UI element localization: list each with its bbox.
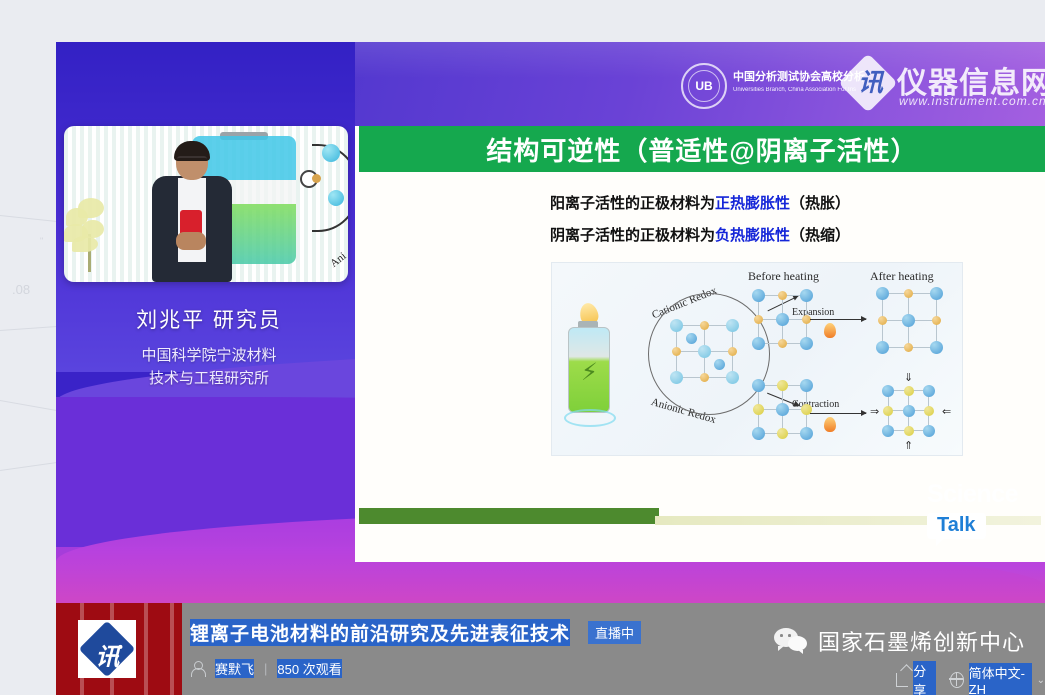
- line2-highlight: 负热膨胀性: [715, 227, 790, 244]
- speaker-card: Ani 刘兆平 研究员 中国科学院宁波材料 技术与工程研究所: [64, 126, 354, 391]
- figure-arrow-up: ⇑: [904, 439, 913, 452]
- figure-arrow-down: ⇓: [904, 371, 913, 384]
- slide-body-line-2: 阴离子活性的正极材料为负热膨胀性（热缩）: [355, 224, 1045, 245]
- science-talk-word-talk: Talk: [927, 513, 986, 539]
- speaker-name: 刘兆平 研究员: [64, 304, 354, 334]
- plant-decoration: [64, 174, 116, 270]
- speaker-org-line-1: 中国科学院宁波材料: [64, 344, 354, 367]
- glow-ring: [564, 409, 616, 427]
- connector-line-lower: [312, 178, 348, 232]
- watermark-squiggle-icon: 讯: [858, 69, 880, 97]
- science-talk-word-science: Science: [927, 480, 1045, 509]
- line1-prefix: 阳离子活性的正极材料为: [550, 195, 715, 212]
- video-player[interactable]: Ani 刘兆平 研究员 中国科学院宁波材料 技术与工程研究所: [56, 42, 1045, 695]
- chevron-down-icon: ⌄: [1037, 675, 1045, 686]
- atom-node-icon: [328, 190, 344, 206]
- speaker-video-thumbnail[interactable]: Ani: [64, 126, 348, 282]
- slide-footer-band: [359, 508, 659, 524]
- stage-background: Ani 刘兆平 研究员 中国科学院宁波材料 技术与工程研究所: [56, 42, 1045, 603]
- language-selector[interactable]: 简体中文-ZH ⌄: [950, 663, 1045, 695]
- share-icon: [896, 673, 908, 687]
- stream-info-bar: 讯 锂离子电池材料的前沿研究及先进表征技术 直播中 赛默飞 | 850 次观看: [56, 603, 1045, 695]
- slide-title-bar: 结构可逆性（普适性@阴离子活性）: [359, 126, 1045, 172]
- figure-label-after-heating: After heating: [870, 269, 934, 284]
- slide-body-line-1: 阳离子活性的正极材料为正热膨胀性（热胀）: [355, 192, 1045, 213]
- globe-icon: [950, 672, 964, 688]
- stream-title: 锂离子电池材料的前沿研究及先进表征技术: [190, 619, 570, 646]
- speaker-figure: [150, 144, 234, 282]
- sponsor-logo-block: 讯: [56, 603, 182, 695]
- line1-highlight: 正热膨胀性: [715, 195, 790, 212]
- speaker-organization: 中国科学院宁波材料 技术与工程研究所: [64, 344, 354, 391]
- flame-icon: [824, 417, 836, 432]
- meta-separator: |: [264, 661, 267, 676]
- ub-logo-text: UB: [688, 70, 720, 102]
- flame-icon: [824, 323, 836, 338]
- slide-header: UB 中国分析测试协会高校分析 Universities Branch, Chi…: [355, 42, 1045, 126]
- slide-title: 结构可逆性（普适性@阴离子活性）: [486, 131, 917, 168]
- line1-suffix: （热胀）: [790, 195, 850, 212]
- speaker-org-line-2: 技术与工程研究所: [64, 367, 354, 390]
- lattice-cationic-before: [752, 289, 814, 351]
- science-talk-logo: Science Talk: [927, 480, 1045, 539]
- figure-battery-icon: ⚡: [564, 317, 612, 417]
- line2-suffix: （热缩）: [790, 227, 850, 244]
- instrument-watermark: 讯 仪器信息网 www.instrument.com.cn: [847, 56, 1045, 114]
- lattice-anionic-before: [752, 379, 814, 441]
- share-label: 分享: [913, 661, 935, 695]
- video-background-label: Ani: [328, 250, 348, 270]
- redox-mechanism-figure: Before heating After heating Expansion C…: [551, 262, 963, 456]
- share-button[interactable]: 分享: [896, 661, 936, 695]
- watermark-url: www.instrument.com.cn: [899, 94, 1045, 108]
- stream-meta-row: 赛默飞 | 850 次观看: [190, 659, 342, 678]
- sponsor-diamond-logo-icon: 讯: [78, 620, 136, 678]
- ub-association-logo: UB: [681, 63, 727, 109]
- wechat-account-name: 国家石墨烯创新中心: [818, 625, 1025, 657]
- atom-node-icon: [312, 174, 321, 183]
- view-count: 850 次观看: [277, 659, 341, 678]
- line2-prefix: 阴离子活性的正极材料为: [550, 227, 715, 244]
- figure-3d-lattice: [664, 311, 754, 393]
- live-status-badge: 直播中: [588, 621, 641, 644]
- stream-title-row: 锂离子电池材料的前沿研究及先进表征技术 直播中: [190, 619, 641, 646]
- wechat-icon: [774, 628, 808, 654]
- atom-node-icon: [322, 144, 340, 162]
- language-label: 简体中文-ZH: [969, 663, 1032, 695]
- figure-arrow-right: ⇒: [870, 405, 879, 418]
- player-controls: 分享 简体中文-ZH ⌄: [896, 661, 1045, 695]
- lattice-anionic-after: [882, 385, 938, 439]
- speech-bubble-tail-icon: [936, 537, 945, 546]
- organizer-name: 赛默飞: [215, 659, 254, 678]
- wechat-account-group: 国家石墨烯创新中心: [774, 625, 1025, 657]
- figure-arrow-left: ⇐: [942, 405, 951, 418]
- figure-label-before-heating: Before heating: [748, 269, 819, 284]
- lattice-cationic-after: [874, 287, 946, 357]
- person-icon: [190, 661, 205, 676]
